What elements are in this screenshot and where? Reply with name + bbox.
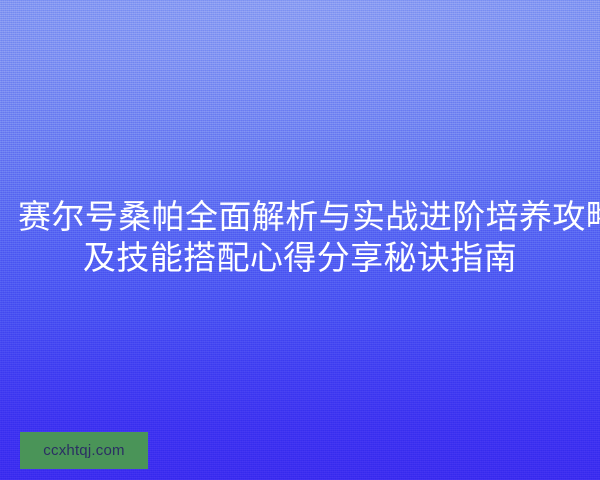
poster-canvas: 赛尔号桑帕全面解析与实战进阶培养攻略 及技能搭配心得分享秘诀指南 ccxhtqj… <box>0 0 600 480</box>
title-line-1: 赛尔号桑帕全面解析与实战进阶培养攻略 <box>18 196 582 237</box>
title-line-2: 及技能搭配心得分享秘诀指南 <box>18 237 582 278</box>
watermark-badge: ccxhtqj.com <box>20 432 148 469</box>
watermark-label: ccxhtqj.com <box>43 443 124 458</box>
page-title: 赛尔号桑帕全面解析与实战进阶培养攻略 及技能搭配心得分享秘诀指南 <box>0 196 600 278</box>
